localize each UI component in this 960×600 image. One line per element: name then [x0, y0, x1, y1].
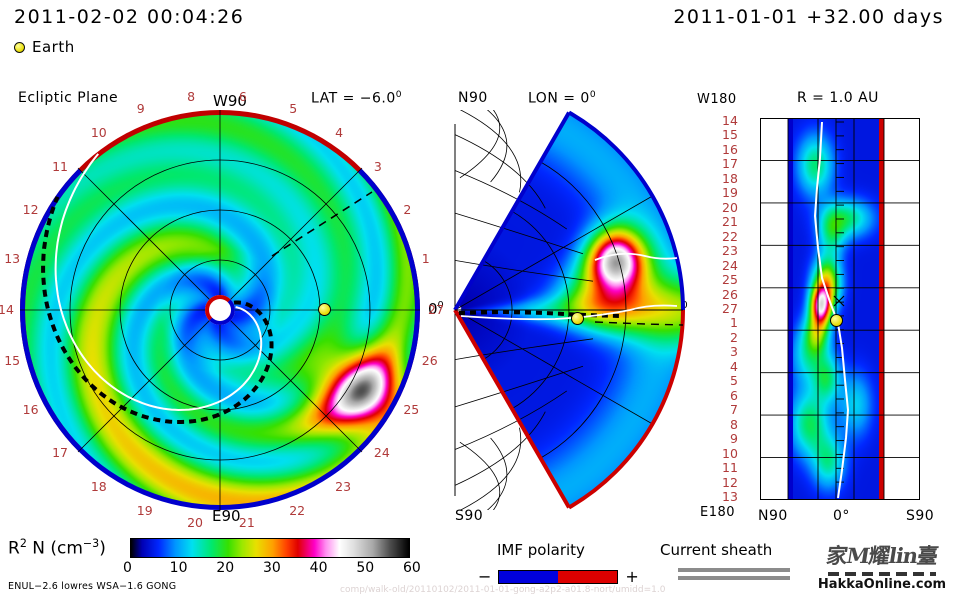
ecliptic-tick-17: 17: [52, 445, 68, 460]
one-au-tick-22: 22: [722, 229, 738, 244]
earth-legend-label: Earth: [32, 38, 75, 56]
imf-negative-swatch: [499, 571, 558, 583]
ecliptic-tick-21: 21: [239, 515, 255, 530]
imf-plus-label: +: [625, 567, 638, 586]
ecliptic-tick-22: 22: [289, 503, 305, 518]
meridional-grid-overlay: [445, 110, 695, 510]
one-au-bottom-zero: 0°: [833, 508, 850, 524]
watermark-site-label: HakkaOnline.com: [812, 577, 952, 592]
ecliptic-tick-6: 6: [239, 89, 247, 104]
ecliptic-panel-title: Ecliptic Plane: [18, 90, 118, 106]
meridional-s90-label: S90: [455, 508, 483, 524]
one-au-tick-10: 10: [722, 446, 738, 461]
one-au-map-plot[interactable]: [760, 118, 920, 500]
colorbar-axis-label: R2 N (cm−3): [8, 537, 106, 559]
colorbar-tick-50: 50: [356, 560, 374, 576]
timestamp-label: 2011-02-02 00:04:26: [14, 6, 244, 28]
ecliptic-tick-25: 25: [403, 402, 419, 417]
ecliptic-tick-3: 3: [374, 159, 382, 174]
run-elapsed-label: 2011-01-01 +32.00 days: [673, 6, 944, 28]
ecliptic-tick-10: 10: [91, 125, 107, 140]
one-au-tick-23: 23: [722, 243, 738, 258]
one-au-bottom-n90: N90: [758, 508, 788, 524]
one-au-tick-6: 6: [730, 388, 738, 403]
ecliptic-tick-15: 15: [4, 353, 20, 368]
colorbar-tick-10: 10: [170, 560, 188, 576]
one-au-tick-11: 11: [722, 460, 738, 475]
ecliptic-tick-18: 18: [91, 479, 107, 494]
colorbar-gradient: [130, 538, 410, 558]
colorbar[interactable]: [130, 538, 410, 558]
one-au-tick-2: 2: [730, 330, 738, 345]
meridional-lon-label: LON = 00: [528, 90, 596, 107]
ecliptic-tick-27: 27: [428, 302, 444, 317]
current-sheath-title: Current sheath: [660, 541, 772, 559]
faint-url-watermark: comp/walk-old/20110102/2011-01-01-gong-a…: [340, 585, 665, 595]
ecliptic-tick-12: 12: [23, 202, 39, 217]
one-au-tick-19: 19: [722, 185, 738, 200]
colorbar-tick-30: 30: [263, 560, 281, 576]
ecliptic-tick-16: 16: [23, 402, 39, 417]
ecliptic-tick-19: 19: [137, 503, 153, 518]
one-au-tick-14: 14: [722, 113, 738, 128]
one-au-tick-7: 7: [730, 402, 738, 417]
ecliptic-tick-11: 11: [52, 159, 68, 174]
earth-dot-icon: [14, 42, 25, 53]
one-au-tick-1: 1: [730, 315, 738, 330]
earth-legend: Earth: [14, 38, 75, 56]
colorbar-tick-20: 20: [216, 560, 234, 576]
ecliptic-tick-4: 4: [335, 125, 343, 140]
meridional-plane-plot[interactable]: [445, 110, 695, 510]
one-au-tick-20: 20: [722, 200, 738, 215]
earth-marker-meridional: [571, 312, 584, 325]
colorbar-tick-60: 60: [403, 560, 421, 576]
one-au-tick-21: 21: [722, 214, 738, 229]
ecliptic-lat-label: LAT = −6.00: [311, 90, 402, 107]
watermark-dash-rule: [828, 572, 936, 576]
ecliptic-tick-5: 5: [289, 101, 297, 116]
one-au-tick-3: 3: [730, 344, 738, 359]
one-au-tick-27: 27: [722, 301, 738, 316]
ecliptic-tick-24: 24: [374, 445, 390, 460]
ecliptic-tick-14: 14: [0, 302, 14, 317]
imf-polarity-title: IMF polarity: [497, 541, 585, 559]
one-au-tick-8: 8: [730, 417, 738, 432]
one-au-tick-17: 17: [722, 156, 738, 171]
one-au-tick-4: 4: [730, 359, 738, 374]
one-au-tick-16: 16: [722, 142, 738, 157]
site-watermark: 家M耀lin臺 HakkaOnline.com: [812, 540, 952, 592]
one-au-tick-25: 25: [722, 272, 738, 287]
one-au-tick-5: 5: [730, 373, 738, 388]
ecliptic-tick-13: 13: [4, 251, 20, 266]
one-au-e180-label: E180: [700, 505, 735, 520]
ecliptic-tick-9: 9: [137, 101, 145, 116]
colorbar-tick-40: 40: [310, 560, 328, 576]
one-au-bottom-s90: S90: [906, 508, 934, 524]
one-au-tick-26: 26: [722, 287, 738, 302]
ecliptic-tick-1: 1: [422, 251, 430, 266]
one-au-tick-18: 18: [722, 171, 738, 186]
watermark-glyph: 家M耀lin臺: [810, 540, 955, 570]
one-au-w180-label: W180: [697, 92, 737, 107]
imf-positive-swatch: [558, 571, 617, 583]
imf-minus-label: −: [478, 567, 491, 586]
ecliptic-tick-23: 23: [335, 479, 351, 494]
ecliptic-tick-2: 2: [403, 202, 411, 217]
earth-marker-ecliptic: [318, 303, 331, 316]
ecliptic-tick-20: 20: [187, 515, 203, 530]
one-au-title: R = 1.0 AU: [797, 90, 879, 106]
one-au-tick-24: 24: [722, 258, 738, 273]
imf-polarity-legend: − +: [478, 567, 639, 586]
current-sheath-legend: [678, 568, 790, 584]
one-au-tick-13: 13: [722, 489, 738, 504]
colorbar-tick-0: 0: [123, 560, 132, 576]
imf-polarity-bar: [498, 570, 618, 584]
sheath-line-lower: [678, 576, 790, 580]
ecliptic-tick-26: 26: [422, 353, 438, 368]
model-credit-label: ENUL−2.6 lowres WSA−1.6 GONG: [8, 581, 176, 592]
one-au-tick-12: 12: [722, 475, 738, 490]
one-au-tick-15: 15: [722, 127, 738, 142]
one-au-tick-9: 9: [730, 431, 738, 446]
one-au-grid-overlay: [760, 118, 920, 500]
meridional-n90-label: N90: [458, 90, 488, 106]
sun-polarity-negative: [205, 295, 235, 325]
ecliptic-plane-plot[interactable]: [20, 110, 420, 510]
ecliptic-tick-8: 8: [187, 89, 195, 104]
sheath-line-upper: [678, 568, 790, 572]
earth-marker-one-au: [830, 314, 843, 327]
